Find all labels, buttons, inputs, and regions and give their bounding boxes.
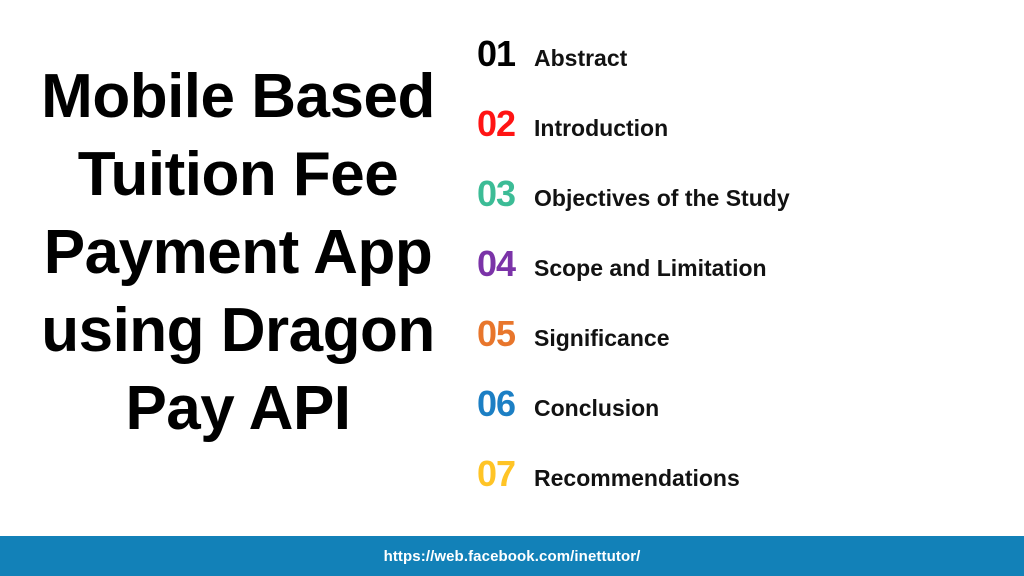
page-title: Mobile Based Tuition Fee Payment App usi…: [12, 58, 464, 448]
list-item[interactable]: 05 Significance: [470, 316, 1014, 386]
agenda-number: 01: [470, 36, 534, 72]
footer-bar: https://web.facebook.com/inettutor/: [0, 536, 1024, 576]
list-item[interactable]: 07 Recommendations: [470, 456, 1014, 526]
agenda-label: Objectives of the Study: [534, 185, 790, 211]
agenda-number: 02: [470, 106, 534, 142]
list-item[interactable]: 04 Scope and Limitation: [470, 246, 1014, 316]
agenda-number: 06: [470, 386, 534, 422]
presentation-slide: Mobile Based Tuition Fee Payment App usi…: [0, 0, 1024, 576]
list-item[interactable]: 03 Objectives of the Study: [470, 176, 1014, 246]
title-column: Mobile Based Tuition Fee Payment App usi…: [12, 58, 464, 458]
footer-url-link[interactable]: https://web.facebook.com/inettutor/: [384, 548, 641, 565]
agenda-label: Recommendations: [534, 465, 740, 491]
agenda-number: 04: [470, 246, 534, 282]
agenda-number: 07: [470, 456, 534, 492]
agenda-label: Abstract: [534, 45, 627, 71]
agenda-number: 03: [470, 176, 534, 212]
agenda-label: Introduction: [534, 115, 668, 141]
agenda-number: 05: [470, 316, 534, 352]
list-item[interactable]: 02 Introduction: [470, 106, 1014, 176]
agenda-list: 01 Abstract 02 Introduction 03 Objective…: [470, 36, 1014, 526]
list-item[interactable]: 06 Conclusion: [470, 386, 1014, 456]
agenda-label: Significance: [534, 325, 669, 351]
list-item[interactable]: 01 Abstract: [470, 36, 1014, 106]
agenda-label: Conclusion: [534, 395, 659, 421]
agenda-label: Scope and Limitation: [534, 255, 767, 281]
